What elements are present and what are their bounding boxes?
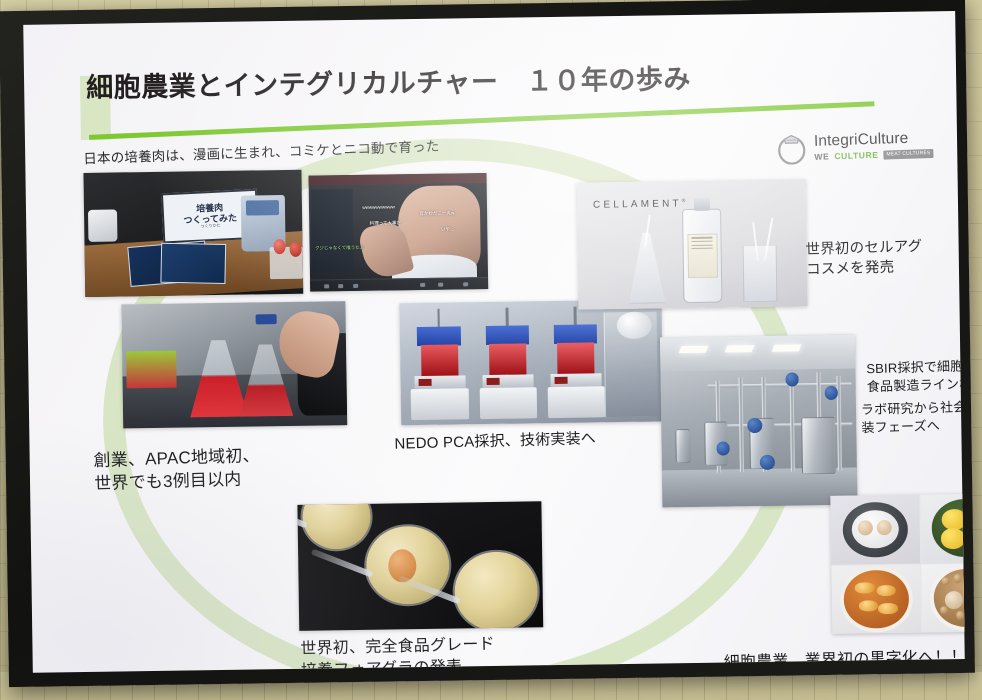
brand-tagline-we: WE — [814, 152, 829, 161]
facility-ceiling — [660, 335, 855, 372]
photo-cultured-meat-maker-desk: 培養肉 つくってみた つくりかた — [83, 170, 303, 297]
bottle-cap — [694, 198, 710, 211]
blue-valve — [824, 386, 838, 400]
video-comment-overlay: wwwwwwwwww — [362, 205, 395, 210]
presentation-slide: 細胞農業とインテグリカルチャー １０年の歩み 日本の培養肉は、漫画に生まれ、コミ… — [23, 11, 965, 673]
pipe-column — [789, 373, 794, 472]
red-sample-b — [289, 242, 301, 257]
ceiling-lamp — [678, 345, 708, 352]
placard-small-left: つくりかた — [201, 223, 221, 229]
process-tank — [802, 416, 836, 474]
photo-food-product-grid — [830, 493, 964, 634]
video-header-bar — [309, 173, 487, 186]
photo-production-facility — [660, 335, 858, 508]
cellament-bottle — [682, 208, 722, 303]
video-side-panel — [310, 189, 354, 273]
pipe-column — [739, 377, 744, 472]
video-comment-overlay: 料理って大事だ — [370, 221, 401, 227]
brand-name: IntegriCulture — [814, 130, 934, 149]
food-dish-braised — [831, 564, 921, 634]
caption-cosme-launch: 世界初のセルアグ コスメを発売 — [805, 237, 923, 280]
photo-cellament-product: CELLAMENT® — [577, 179, 808, 309]
video-comment-overlay: いや… — [441, 227, 455, 233]
cup-object — [88, 210, 117, 243]
video-comment-overlay: クジじゃなくて喰うたよ — [315, 244, 364, 251]
brand-badge: MEAT CULTURES — [883, 149, 933, 160]
booklet-back — [161, 243, 227, 284]
presentation-display-bezel: 細胞農業とインテグリカルチャー １０年の歩み 日本の培養肉は、漫画に生まれ、コミ… — [0, 0, 975, 687]
spoon-sample — [302, 501, 371, 550]
caption-founding: 創業、APAC地域初、 世界でも3例目以内 — [93, 444, 261, 496]
bottle-label — [687, 233, 717, 278]
process-tank — [675, 429, 691, 463]
brand-logo: IntegriCulture WE CULTURE MEAT CULTURES — [776, 128, 934, 165]
photo-lab-flasks-red-medium — [121, 301, 347, 428]
food-dish-pearl-grain — [921, 563, 964, 633]
caption-sbir-adoption: SBIR採択で細胞性 食品製造ライン構築 — [866, 357, 965, 396]
photo-bioreactor-array — [399, 299, 663, 425]
spoon-sample — [454, 552, 538, 631]
red-sample-a — [273, 239, 285, 254]
food-dish-salt-baked — [830, 495, 920, 565]
registered-mark: ® — [682, 198, 686, 204]
bioreactor-unit — [410, 327, 469, 421]
caption-lab-to-society: ラボ研究から社会実 装フェーズへ — [861, 398, 965, 437]
caption-foie-gras-announcement: 世界初、完全食品グレード 培養フォアグラの発表 — [300, 634, 495, 673]
blue-flask-cap — [256, 315, 276, 325]
sample-rack — [127, 351, 177, 389]
brand-tagline: WE CULTURE MEAT CULTURES — [814, 149, 933, 162]
ceiling-lamp — [725, 345, 755, 352]
photo-cultured-foie-gras — [297, 501, 543, 631]
bioreactor-unit — [546, 325, 605, 419]
food-dish-lemon — [920, 493, 964, 563]
cellament-wordmark: CELLAMENT® — [593, 198, 686, 211]
ceiling-lamp — [772, 344, 802, 351]
bioreactor-unit — [478, 326, 537, 420]
blue-valve — [716, 442, 730, 456]
brand-text-block: IntegriCulture WE CULTURE MEAT CULTURES — [814, 130, 934, 161]
product-beaker-right — [742, 246, 777, 302]
gas-balloon — [617, 312, 651, 339]
brand-tagline-culture: CULTURE — [834, 151, 878, 161]
ring-logo-icon — [776, 132, 808, 165]
cellament-name: CELLAMENT — [593, 198, 682, 210]
photo-niconico-video: wwwwwwwwww 料理って大事だ 音が妙だこー丸w いや… クジじゃなくて喰… — [309, 173, 489, 292]
video-comment-overlay: 音が妙だこー丸w — [419, 211, 454, 218]
